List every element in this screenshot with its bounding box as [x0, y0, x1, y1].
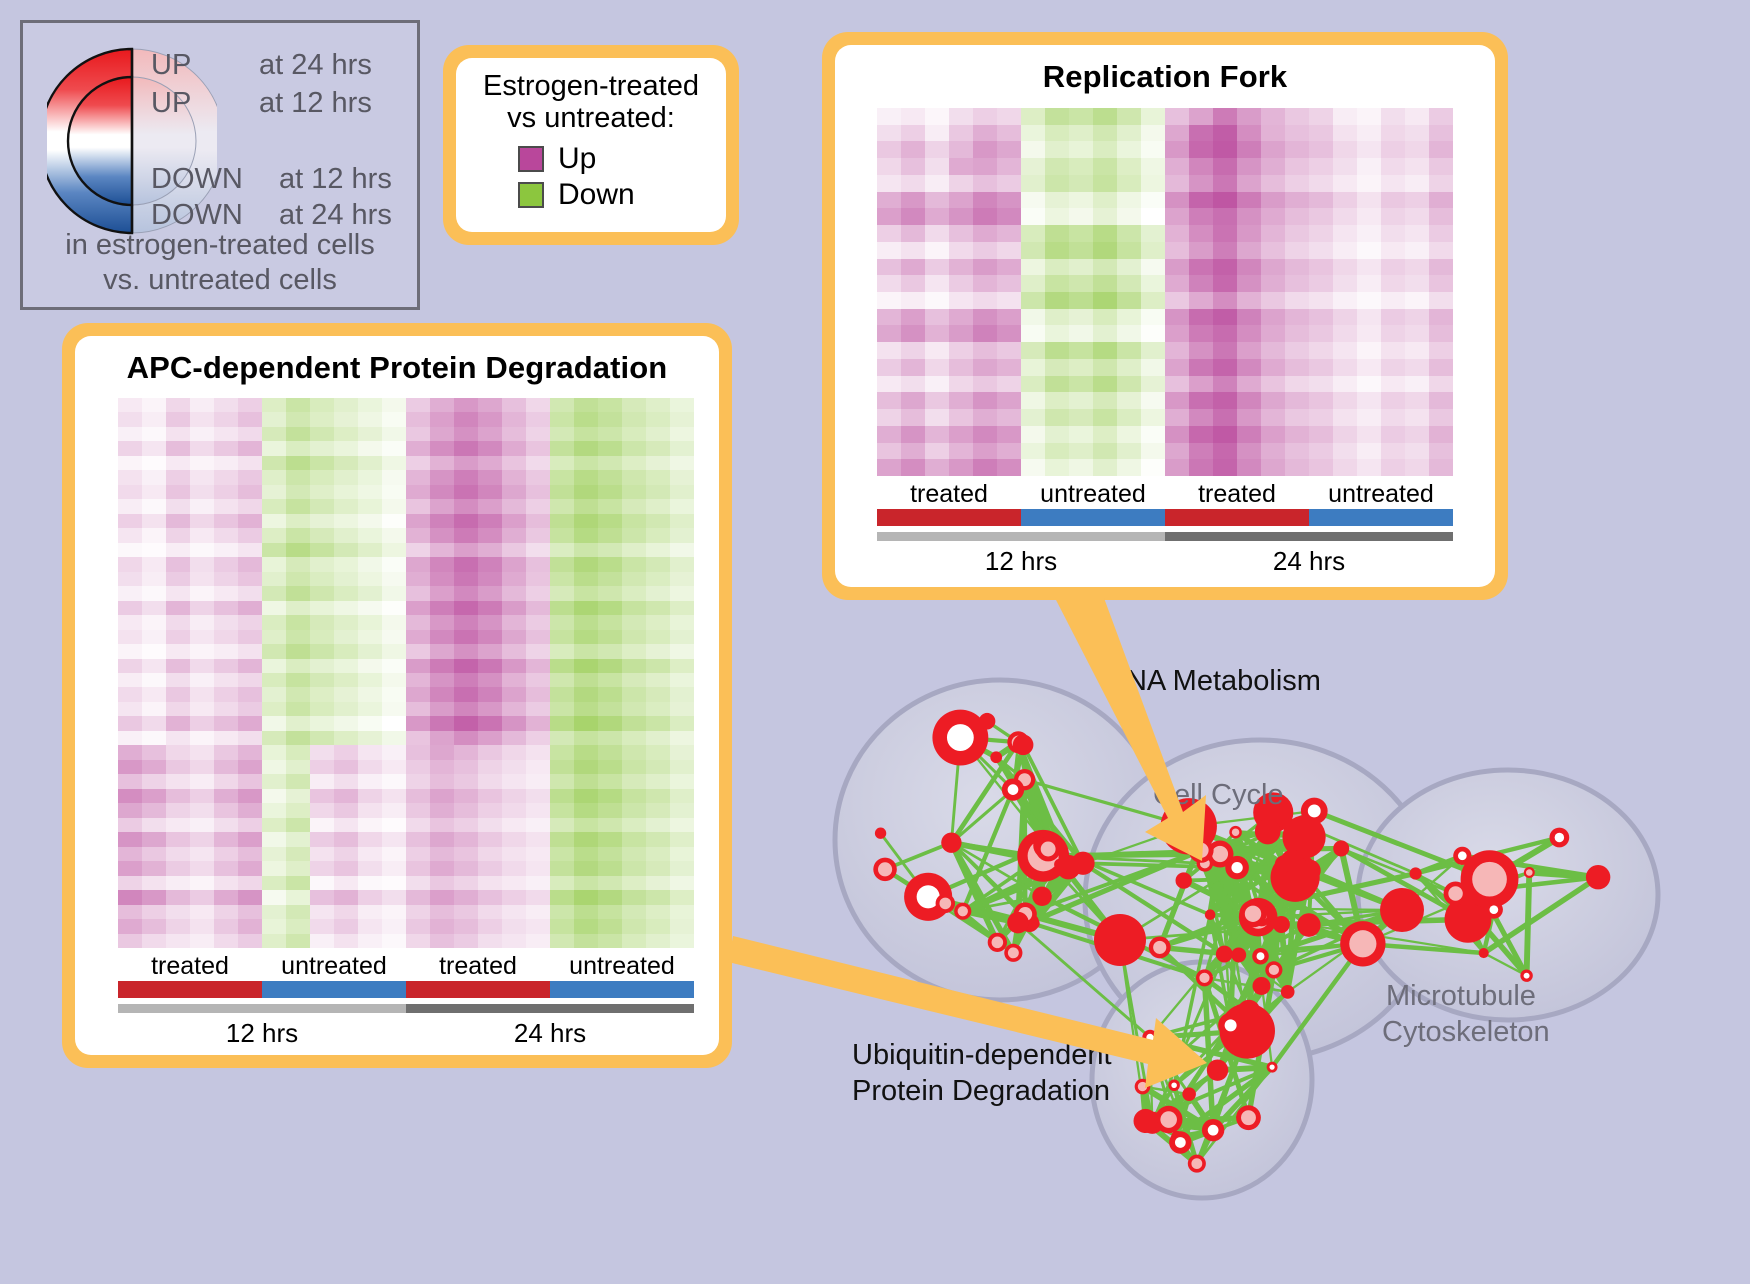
heatmap-cell	[1021, 443, 1045, 460]
heatmap-cell	[310, 934, 334, 948]
color-key-box: UP at 24 hrs UP at 12 hrs DOWN at 12 hrs…	[20, 20, 420, 310]
heatmap-cell	[1309, 225, 1333, 242]
network-cluster-label: DNA Metabolism	[1105, 665, 1321, 698]
heatmap-cell	[382, 470, 406, 484]
heatmap-cell	[454, 832, 478, 846]
heatmap-cell	[1261, 158, 1285, 175]
heatmap-cell	[478, 441, 502, 455]
heatmap-cell	[997, 175, 1021, 192]
heatmap-cell	[358, 861, 382, 875]
heatmap-cell	[478, 398, 502, 412]
heatmap-cell	[1021, 275, 1045, 292]
heatmap-cell	[478, 774, 502, 788]
heatmap-cell	[430, 803, 454, 817]
heatmap-cell	[382, 499, 406, 513]
heatmap-cell	[454, 818, 478, 832]
heatmap-cell	[949, 292, 973, 309]
heatmap-cell	[574, 905, 598, 919]
heatmap-cell	[598, 586, 622, 600]
heatmap-cell	[1213, 108, 1237, 125]
heatmap-cell	[574, 673, 598, 687]
network-node-core	[1490, 905, 1499, 914]
heatmap-cell	[1045, 392, 1069, 409]
heatmap-cell	[622, 934, 646, 948]
heatmap-cell	[382, 572, 406, 586]
heatmap-cell	[262, 586, 286, 600]
heatmap-cell	[901, 141, 925, 158]
heatmap-cell	[190, 847, 214, 861]
heatmap-cell	[1429, 275, 1453, 292]
network-node-core	[1171, 1082, 1177, 1088]
heatmap-cell	[526, 441, 550, 455]
heatmap-cell	[190, 644, 214, 658]
network-node[interactable]	[1007, 912, 1029, 934]
heatmap-cell	[406, 601, 430, 615]
heatmap-cell	[286, 499, 310, 513]
heatmap-cell	[622, 398, 646, 412]
heatmap-cell	[1237, 175, 1261, 192]
heatmap-cell	[1021, 459, 1045, 476]
heatmap-cell	[286, 789, 310, 803]
heatmap-cell	[406, 586, 430, 600]
legend-panel: Estrogen-treated vs untreated: Up Down	[443, 45, 739, 245]
heatmap-cell	[925, 292, 949, 309]
heatmap-cell	[1093, 225, 1117, 242]
heatmap-cell	[406, 398, 430, 412]
network-node[interactable]	[1273, 916, 1290, 933]
heatmap-cell	[1261, 459, 1285, 476]
heatmap-cell	[1045, 426, 1069, 443]
heatmap-cell	[310, 673, 334, 687]
legend-item-down: Down	[518, 178, 712, 212]
heatmap-cell	[286, 412, 310, 426]
heatmap-cell	[973, 409, 997, 426]
heatmap-cell	[997, 225, 1021, 242]
network-node[interactable]	[990, 751, 1002, 763]
heatmap-cell	[478, 876, 502, 890]
heatmap-cell	[358, 847, 382, 861]
heatmap-cell	[238, 644, 262, 658]
replication-fork-panel: Replication Fork treateduntreatedtreated…	[822, 32, 1508, 600]
heatmap-cell	[598, 832, 622, 846]
heatmap-cell	[118, 499, 142, 513]
heatmap-cell	[901, 225, 925, 242]
network-node[interactable]	[1479, 948, 1489, 958]
heatmap-cell	[670, 919, 694, 933]
heatmap-cell	[1069, 108, 1093, 125]
heatmap-cell	[925, 325, 949, 342]
heatmap-cell	[430, 586, 454, 600]
heatmap-cell	[166, 412, 190, 426]
apc-title: APC-dependent Protein Degradation	[75, 350, 719, 386]
heatmap-cell	[1261, 208, 1285, 225]
heatmap-cell	[1333, 125, 1357, 142]
heatmap-cell	[310, 528, 334, 542]
heatmap-cell	[214, 441, 238, 455]
heatmap-cell	[574, 412, 598, 426]
heatmap-cell	[142, 441, 166, 455]
treatment-bar-segment	[1021, 509, 1165, 526]
heatmap-cell	[1309, 208, 1333, 225]
heatmap-cell	[238, 557, 262, 571]
heatmap-cell	[190, 774, 214, 788]
key-caption-line2: vs. untreated cells	[23, 263, 417, 298]
heatmap-cell	[238, 861, 262, 875]
heatmap-cell	[262, 803, 286, 817]
heatmap-cell	[526, 716, 550, 730]
heatmap-cell	[877, 158, 901, 175]
time-label: 24 hrs	[1165, 546, 1453, 577]
network-node[interactable]	[941, 832, 961, 852]
heatmap-cell	[406, 818, 430, 832]
heatmap-cell	[1189, 259, 1213, 276]
heatmap-cell	[1021, 192, 1045, 209]
heatmap-cell	[1093, 259, 1117, 276]
heatmap-cell	[382, 427, 406, 441]
heatmap-cell	[286, 659, 310, 673]
heatmap-cell	[358, 586, 382, 600]
heatmap-cell	[670, 398, 694, 412]
up-swatch-icon	[518, 146, 544, 172]
heatmap-cell	[526, 485, 550, 499]
heatmap-cell	[1285, 426, 1309, 443]
heatmap-cell	[1213, 325, 1237, 342]
heatmap-cell	[1309, 376, 1333, 393]
heatmap-cell	[262, 702, 286, 716]
replication-fork-title: Replication Fork	[835, 59, 1495, 95]
key-label-up-24: UP	[151, 49, 191, 82]
heatmap-cell	[1285, 376, 1309, 393]
heatmap-cell	[454, 774, 478, 788]
heatmap-cell	[1237, 342, 1261, 359]
heatmap-cell	[286, 905, 310, 919]
heatmap-cell	[877, 141, 901, 158]
heatmap-cell	[430, 630, 454, 644]
heatmap-cell	[622, 687, 646, 701]
heatmap-cell	[262, 485, 286, 499]
heatmap-cell	[550, 876, 574, 890]
heatmap-cell	[502, 745, 526, 759]
network-node-core	[1524, 973, 1530, 979]
heatmap-cell	[1093, 292, 1117, 309]
heatmap-cell	[550, 673, 574, 687]
heatmap-cell	[478, 673, 502, 687]
heatmap-cell	[142, 745, 166, 759]
heatmap-cell	[574, 528, 598, 542]
heatmap-cell	[670, 499, 694, 513]
heatmap-cell	[142, 470, 166, 484]
heatmap-cell	[973, 392, 997, 409]
heatmap-cell	[118, 601, 142, 615]
heatmap-cell	[997, 292, 1021, 309]
heatmap-cell	[973, 309, 997, 326]
heatmap-cell	[238, 543, 262, 557]
heatmap-cell	[973, 342, 997, 359]
network-node-core	[1245, 906, 1261, 922]
heatmap-cell	[358, 818, 382, 832]
heatmap-cell	[286, 528, 310, 542]
network-node[interactable]	[1094, 914, 1146, 966]
heatmap-cell	[118, 528, 142, 542]
heatmap-cell	[1237, 409, 1261, 426]
heatmap-cell	[550, 398, 574, 412]
heatmap-cell	[214, 572, 238, 586]
heatmap-cell	[190, 586, 214, 600]
network-node[interactable]	[875, 828, 886, 839]
heatmap-cell	[949, 208, 973, 225]
heatmap-cell	[406, 485, 430, 499]
heatmap-cell	[901, 158, 925, 175]
heatmap-cell	[1333, 208, 1357, 225]
heatmap-cell	[142, 890, 166, 904]
heatmap-cell	[622, 441, 646, 455]
heatmap-cell	[949, 275, 973, 292]
heatmap-cell	[430, 876, 454, 890]
heatmap-cell	[502, 398, 526, 412]
heatmap-cell	[406, 427, 430, 441]
heatmap-cell	[190, 398, 214, 412]
heatmap-cell	[358, 673, 382, 687]
heatmap-cell	[1429, 359, 1453, 376]
network-node[interactable]	[1333, 840, 1349, 856]
heatmap-cell	[310, 731, 334, 745]
heatmap-cell	[382, 803, 406, 817]
heatmap-cell	[478, 716, 502, 730]
heatmap-cell	[142, 615, 166, 629]
heatmap-cell	[1045, 141, 1069, 158]
heatmap-cell	[1357, 426, 1381, 443]
network-node-core	[1208, 1125, 1219, 1136]
heatmap-cell	[118, 818, 142, 832]
heatmap-cell	[1069, 292, 1093, 309]
heatmap-cell	[925, 392, 949, 409]
heatmap-cell	[214, 760, 238, 774]
heatmap-cell	[166, 760, 190, 774]
heatmap-cell	[406, 557, 430, 571]
network-node[interactable]	[1176, 872, 1192, 888]
heatmap-cell	[670, 427, 694, 441]
heatmap-cell	[1261, 426, 1285, 443]
network-node[interactable]	[1297, 913, 1321, 937]
heatmap-cell	[1021, 141, 1045, 158]
heatmap-cell	[622, 644, 646, 658]
heatmap-cell	[598, 731, 622, 745]
heatmap-cell	[670, 528, 694, 542]
heatmap-cell	[670, 673, 694, 687]
heatmap-cell	[997, 443, 1021, 460]
legend-items: Up Down	[470, 142, 712, 212]
heatmap-cell	[1093, 275, 1117, 292]
treatment-bar-segment	[877, 509, 1021, 526]
heatmap-cell	[526, 934, 550, 948]
heatmap-cell	[1093, 175, 1117, 192]
network-node[interactable]	[1216, 946, 1233, 963]
heatmap-cell	[310, 760, 334, 774]
heatmap-cell	[670, 514, 694, 528]
network-node[interactable]	[1281, 850, 1304, 873]
heatmap-cell	[430, 485, 454, 499]
heatmap-cell	[454, 702, 478, 716]
heatmap-cell	[1429, 108, 1453, 125]
heatmap-cell	[622, 456, 646, 470]
heatmap-cell	[1117, 426, 1141, 443]
network-node-core	[1448, 886, 1462, 900]
heatmap-cell	[166, 441, 190, 455]
heatmap-cell	[1429, 141, 1453, 158]
heatmap-cell	[334, 760, 358, 774]
heatmap-cell	[1405, 342, 1429, 359]
heatmap-cell	[949, 259, 973, 276]
heatmap-cell	[646, 470, 670, 484]
heatmap-cell	[1405, 275, 1429, 292]
network-node[interactable]	[1207, 1059, 1228, 1080]
heatmap-cell	[430, 919, 454, 933]
heatmap-cell	[118, 687, 142, 701]
heatmap-cell	[238, 427, 262, 441]
heatmap-cell	[190, 702, 214, 716]
heatmap-cell	[382, 441, 406, 455]
heatmap-cell	[286, 427, 310, 441]
heatmap-cell	[670, 630, 694, 644]
heatmap-cell	[1021, 309, 1045, 326]
heatmap-cell	[622, 702, 646, 716]
heatmap-cell	[454, 427, 478, 441]
heatmap-cell	[214, 514, 238, 528]
heatmap-cell	[646, 905, 670, 919]
network-node[interactable]	[1032, 887, 1051, 906]
heatmap-cell	[574, 470, 598, 484]
network-node[interactable]	[1134, 1109, 1158, 1133]
heatmap-cell	[118, 557, 142, 571]
heatmap-cell	[1405, 108, 1429, 125]
network-node[interactable]	[1380, 888, 1424, 932]
heatmap-cell	[1165, 158, 1189, 175]
heatmap-cell	[1381, 426, 1405, 443]
heatmap-cell	[1381, 125, 1405, 142]
heatmap-cell	[502, 441, 526, 455]
heatmap-cell	[670, 789, 694, 803]
heatmap-cell	[406, 861, 430, 875]
heatmap-cell	[454, 601, 478, 615]
heatmap-cell	[1213, 426, 1237, 443]
heatmap-cell	[238, 615, 262, 629]
heatmap-cell	[334, 934, 358, 948]
heatmap-cell	[1237, 392, 1261, 409]
heatmap-cell	[925, 459, 949, 476]
heatmap-cell	[430, 601, 454, 615]
group-label: treated	[406, 953, 550, 979]
network-node[interactable]	[979, 713, 996, 730]
network-node[interactable]	[1231, 947, 1246, 962]
heatmap-cell	[310, 659, 334, 673]
heatmap-cell	[526, 398, 550, 412]
heatmap-cell	[190, 601, 214, 615]
heatmap-cell	[238, 630, 262, 644]
heatmap-cell	[142, 673, 166, 687]
network-node[interactable]	[1255, 819, 1281, 845]
heatmap-cell	[190, 470, 214, 484]
network-node[interactable]	[1182, 1087, 1196, 1101]
heatmap-cell	[286, 876, 310, 890]
heatmap-cell	[925, 342, 949, 359]
network-node-core	[1138, 1082, 1147, 1091]
heatmap-cell	[478, 499, 502, 513]
heatmap-cell	[1309, 158, 1333, 175]
heatmap-cell	[997, 392, 1021, 409]
heatmap-cell	[454, 731, 478, 745]
heatmap-cell	[286, 398, 310, 412]
heatmap-cell	[1429, 409, 1453, 426]
group-label: untreated	[1021, 481, 1165, 507]
heatmap-cell	[574, 456, 598, 470]
network-node[interactable]	[1410, 867, 1422, 879]
heatmap-cell	[1285, 225, 1309, 242]
heatmap-cell	[358, 601, 382, 615]
heatmap-cell	[949, 242, 973, 259]
network-node[interactable]	[1205, 909, 1216, 920]
heatmap-cell	[262, 760, 286, 774]
heatmap-cell	[190, 716, 214, 730]
heatmap-cell	[478, 456, 502, 470]
heatmap-cell	[1429, 175, 1453, 192]
network-cluster-label: Ubiquitin-dependent	[852, 1039, 1112, 1072]
heatmap-cell	[670, 745, 694, 759]
network-node[interactable]	[1252, 977, 1270, 995]
heatmap-cell	[430, 890, 454, 904]
network-node-core	[958, 906, 968, 916]
heatmap-cell	[598, 803, 622, 817]
heatmap-cell	[1357, 225, 1381, 242]
heatmap-cell	[166, 919, 190, 933]
network-node[interactable]	[1281, 985, 1295, 999]
heatmap-cell	[1117, 192, 1141, 209]
heatmap-cell	[646, 687, 670, 701]
heatmap-cell	[358, 412, 382, 426]
heatmap-cell	[118, 760, 142, 774]
heatmap-cell	[550, 615, 574, 629]
heatmap-cell	[877, 292, 901, 309]
heatmap-cell	[118, 630, 142, 644]
heatmap-cell	[406, 803, 430, 817]
heatmap-cell	[502, 847, 526, 861]
heatmap-cell	[190, 789, 214, 803]
heatmap-cell	[574, 543, 598, 557]
heatmap-cell	[1069, 459, 1093, 476]
heatmap-cell	[1141, 376, 1165, 393]
heatmap-cell	[166, 789, 190, 803]
heatmap-cell	[574, 586, 598, 600]
heatmap-cell	[166, 586, 190, 600]
network-node-core	[1555, 833, 1564, 842]
heatmap-cell	[478, 485, 502, 499]
heatmap-cell	[1045, 125, 1069, 142]
heatmap-cell	[949, 443, 973, 460]
network-node[interactable]	[1013, 735, 1034, 756]
heatmap-cell	[646, 673, 670, 687]
heatmap-cell	[1309, 426, 1333, 443]
heatmap-cell	[1381, 443, 1405, 460]
network-node[interactable]	[1071, 852, 1094, 875]
heatmap-cell	[1333, 225, 1357, 242]
heatmap-cell	[358, 789, 382, 803]
heatmap-cell	[1165, 392, 1189, 409]
network-node[interactable]	[1586, 865, 1610, 889]
heatmap-cell	[1165, 275, 1189, 292]
heatmap-cell	[901, 125, 925, 142]
heatmap-cell	[1165, 125, 1189, 142]
heatmap-cell	[334, 427, 358, 441]
heatmap-cell	[646, 716, 670, 730]
